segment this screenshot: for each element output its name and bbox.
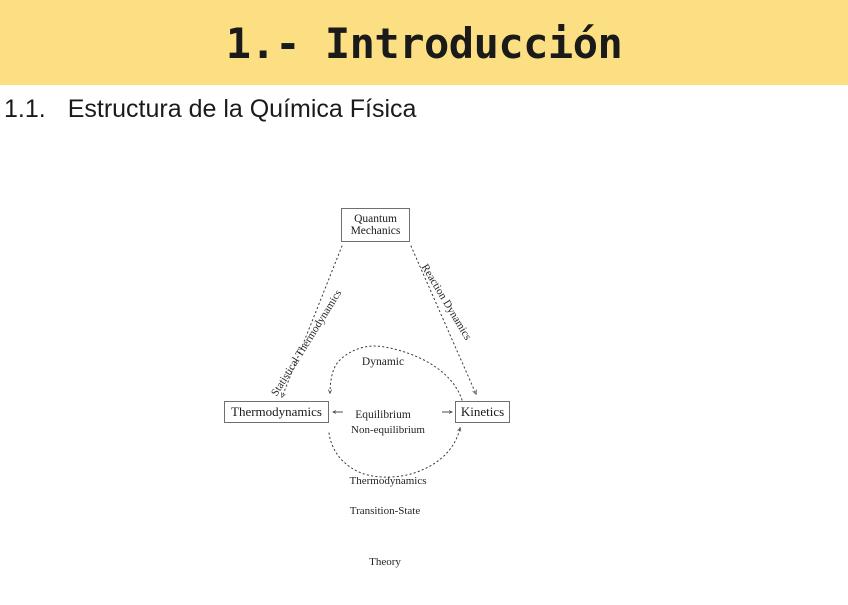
node-quantum-mechanics-line1: Quantum bbox=[354, 213, 397, 225]
diagram-node-thermodynamics: Thermodynamics bbox=[224, 401, 329, 423]
diagram-node-quantum-mechanics: Quantum Mechanics bbox=[341, 208, 410, 242]
diagram-label-transition-state-theory: Transition-State Theory bbox=[330, 469, 440, 605]
node-thermodynamics-label: Thermodynamics bbox=[231, 405, 322, 419]
diagram-node-kinetics: Kinetics bbox=[455, 401, 510, 423]
slide-subtitle-row: 1.1. Estructura de la Química Física bbox=[0, 89, 848, 129]
node-kinetics-label: Kinetics bbox=[461, 405, 504, 419]
non-equilibrium-line1: Non-equilibrium bbox=[323, 422, 453, 439]
page-title: 1.- Introducción bbox=[226, 23, 623, 65]
dynamic-equilibrium-line1: Dynamic bbox=[328, 354, 438, 372]
subtitle-number: 1.1. bbox=[4, 97, 46, 122]
transition-state-theory-line2: Theory bbox=[330, 554, 440, 571]
node-quantum-mechanics-line2: Mechanics bbox=[351, 225, 401, 237]
slide-title-band: 1.- Introducción bbox=[0, 0, 848, 85]
physical-chemistry-structure-diagram: Quantum Mechanics Thermodynamics Kinetic… bbox=[200, 190, 560, 520]
transition-state-theory-line1: Transition-State bbox=[330, 503, 440, 520]
subtitle-text: Estructura de la Química Física bbox=[68, 97, 417, 122]
